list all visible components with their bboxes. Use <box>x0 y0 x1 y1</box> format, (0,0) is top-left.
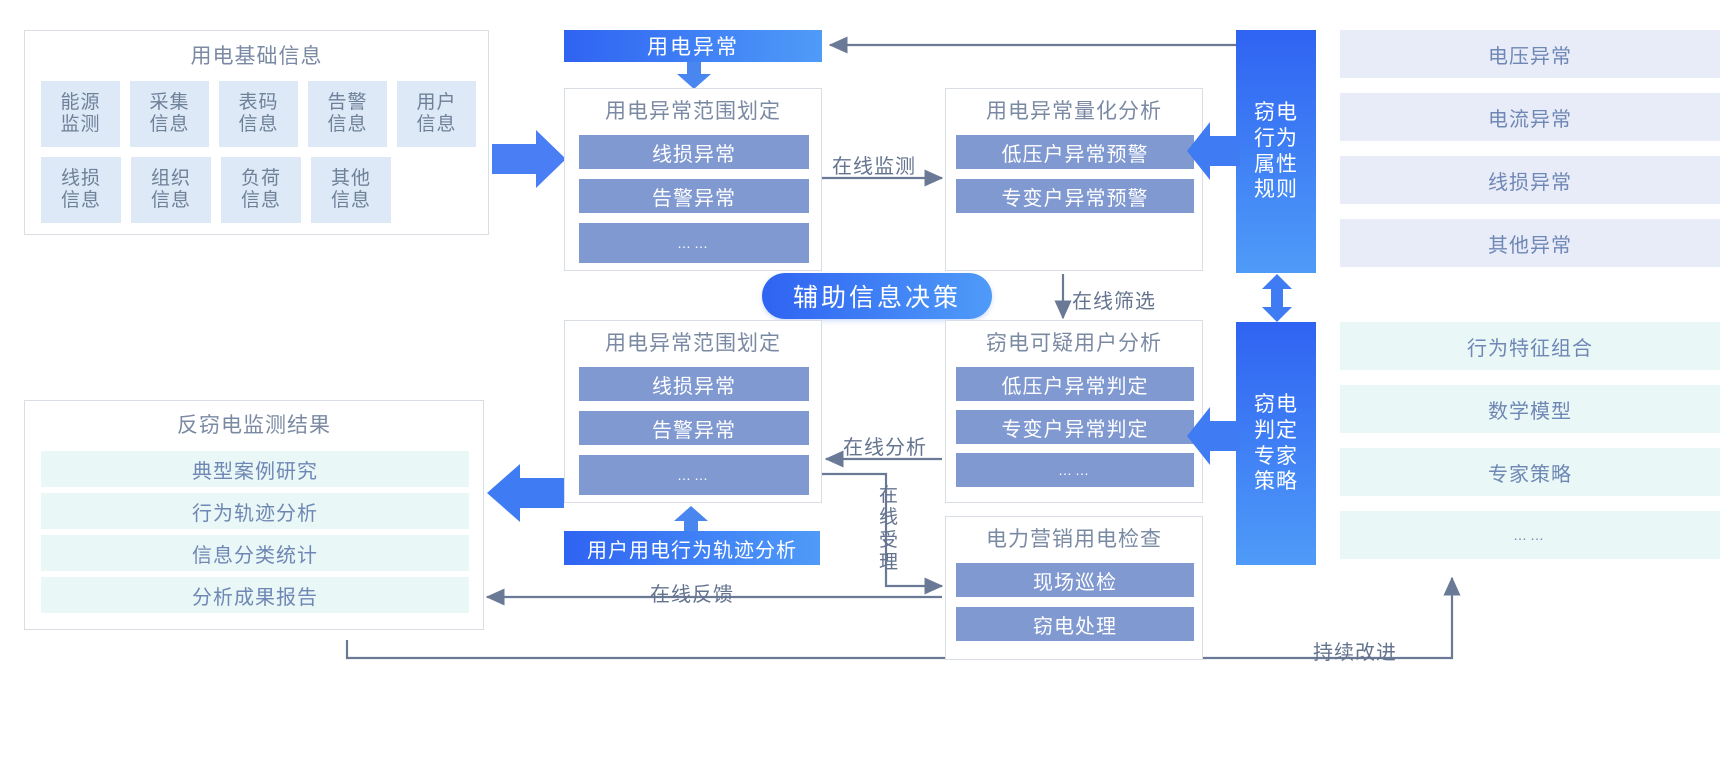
rule-bottom-item-more[interactable]: …… <box>1340 511 1720 559</box>
label-char: 在 <box>878 485 900 507</box>
row-label: 分析成果报告 <box>192 581 318 610</box>
label-continuous-improve: 持续改进 <box>1313 636 1397 665</box>
arrow-banner-down-icon <box>676 62 712 90</box>
row-label: 数学模型 <box>1488 395 1572 424</box>
connector-continuous-improve <box>347 578 1452 658</box>
chip-line2: 信息 <box>61 190 101 212</box>
row-label: 典型案例研究 <box>192 455 318 484</box>
rule-line: 属性 <box>1254 152 1298 178</box>
chip-collection-info[interactable]: 采集 信息 <box>130 81 209 147</box>
chip-alarm-info[interactable]: 告警 信息 <box>308 81 387 147</box>
chip-line1: 组织 <box>151 168 191 190</box>
row-label: 专变户异常判定 <box>1002 413 1149 442</box>
basic-info-panel: 用电基础信息 能源 监测 采集 信息 表码 信息 告警 信息 <box>24 30 489 235</box>
label-char: 线 <box>878 507 900 529</box>
chip-line-loss-info[interactable]: 线损 信息 <box>41 157 121 223</box>
inspection-panel: 电力营销用电检查 现场巡检 窃电处理 <box>945 516 1203 660</box>
rule-block-top[interactable]: 窃电 行为 属性 规则 <box>1236 30 1316 273</box>
scope-mid-row-alarm[interactable]: 告警异常 <box>579 411 809 445</box>
chip-organization-info[interactable]: 组织 信息 <box>131 157 211 223</box>
chip-line2: 信息 <box>327 114 367 136</box>
chip-line2: 信息 <box>151 190 191 212</box>
decision-pill-label: 辅助信息决策 <box>793 278 961 314</box>
row-label: 专变户异常预警 <box>1002 182 1149 211</box>
chip-load-info[interactable]: 负荷 信息 <box>221 157 301 223</box>
scope-top-row-more[interactable]: …… <box>579 223 809 263</box>
row-label: 行为特征组合 <box>1467 332 1593 361</box>
result-row-behavior-trace[interactable]: 行为轨迹分析 <box>41 493 469 529</box>
chip-line1: 采集 <box>149 92 189 114</box>
row-label: 专家策略 <box>1488 458 1572 487</box>
scope-mid-row-more[interactable]: …… <box>579 455 809 495</box>
quant-title: 用电异常量化分析 <box>946 99 1202 124</box>
result-title: 反窃电监测结果 <box>25 413 483 438</box>
chip-line1: 表码 <box>238 92 278 114</box>
chip-line1: 能源 <box>60 92 100 114</box>
scope-top-row-line-loss[interactable]: 线损异常 <box>579 135 809 169</box>
row-label: 现场巡检 <box>1033 566 1117 595</box>
chip-energy-monitor[interactable]: 能源 监测 <box>41 81 120 147</box>
row-label: 低压户异常预警 <box>1002 138 1149 167</box>
label-online-feedback: 在线反馈 <box>650 578 734 607</box>
rule-top-item-current-anomaly[interactable]: 电流异常 <box>1340 93 1720 141</box>
row-label: 行为轨迹分析 <box>192 497 318 526</box>
rule-line: 专家 <box>1254 444 1298 470</box>
chip-user-info[interactable]: 用户 信息 <box>397 81 476 147</box>
row-label: 线损异常 <box>652 370 736 399</box>
row-label: 线损异常 <box>1488 166 1572 195</box>
arrow-scope-to-result-icon <box>486 462 564 524</box>
rule-block-bottom[interactable]: 窃电 判定 专家 策略 <box>1236 322 1316 565</box>
result-row-analysis-report[interactable]: 分析成果报告 <box>41 577 469 613</box>
suspect-row-more[interactable]: …… <box>956 453 1194 487</box>
row-label: …… <box>1058 462 1092 478</box>
trace-analysis-bar[interactable]: 用户用电行为轨迹分析 <box>564 531 820 565</box>
chip-line2: 信息 <box>416 114 456 136</box>
chip-line2: 信息 <box>238 114 278 136</box>
rule-line: 规则 <box>1254 177 1298 203</box>
result-panel: 反窃电监测结果 典型案例研究 行为轨迹分析 信息分类统计 分析成果报告 <box>24 400 484 630</box>
row-label: 告警异常 <box>652 414 736 443</box>
label-char: 理 <box>878 552 900 574</box>
scope-mid-title: 用电异常范围划定 <box>565 331 821 356</box>
basic-info-title: 用电基础信息 <box>25 44 488 69</box>
row-label: 告警异常 <box>652 182 736 211</box>
chip-line1: 告警 <box>327 92 367 114</box>
rule-top-item-other-anomaly[interactable]: 其他异常 <box>1340 219 1720 267</box>
top-anomaly-banner[interactable]: 用电异常 <box>564 30 822 62</box>
inspection-row-site-patrol[interactable]: 现场巡检 <box>956 563 1194 597</box>
rule-block-bottom-label: 窃电 判定 专家 策略 <box>1254 392 1298 494</box>
arrow-rule-to-quant-icon <box>1186 120 1240 182</box>
rule-bottom-item-math-model[interactable]: 数学模型 <box>1340 385 1720 433</box>
label-online-filter: 在线筛选 <box>1072 285 1156 314</box>
scope-top-panel: 用电异常范围划定 线损异常 告警异常 …… <box>564 88 822 271</box>
suspect-panel: 窃电可疑用户分析 低压户异常判定 专变户异常判定 …… <box>945 320 1203 503</box>
quant-row-special-user-warning[interactable]: 专变户异常预警 <box>956 179 1194 213</box>
inspection-title: 电力营销用电检查 <box>946 527 1202 552</box>
scope-mid-panel: 用电异常范围划定 线损异常 告警异常 …… <box>564 320 822 503</box>
inspection-row-theft-handling[interactable]: 窃电处理 <box>956 607 1194 641</box>
row-label: 其他异常 <box>1488 229 1572 258</box>
diagram-canvas: 用电基础信息 能源 监测 采集 信息 表码 信息 告警 信息 <box>0 0 1731 764</box>
row-label: 电流异常 <box>1488 103 1572 132</box>
rule-bottom-item-behavior-feature-combo[interactable]: 行为特征组合 <box>1340 322 1720 370</box>
basic-info-chip-grid: 能源 监测 采集 信息 表码 信息 告警 信息 用户 信息 <box>41 81 476 223</box>
rule-top-items: 电压异常 电流异常 线损异常 其他异常 <box>1340 30 1720 267</box>
rule-bottom-item-expert-strategy[interactable]: 专家策略 <box>1340 448 1720 496</box>
row-label: …… <box>1513 527 1547 543</box>
suspect-row-special-user-judge[interactable]: 专变户异常判定 <box>956 410 1194 444</box>
rule-blocks-double-arrow-icon <box>1261 274 1293 322</box>
row-label: …… <box>677 467 711 483</box>
rule-line: 判定 <box>1254 418 1298 444</box>
label-online-accept: 在 线 受 理 <box>878 485 900 575</box>
label-online-monitor: 在线监测 <box>832 150 916 179</box>
chip-line2: 信息 <box>149 114 189 136</box>
decision-pill[interactable]: 辅助信息决策 <box>762 273 992 319</box>
arrow-rule-to-suspect-icon <box>1186 405 1240 467</box>
chip-line2: 信息 <box>331 190 371 212</box>
suspect-row-lv-user-judge[interactable]: 低压户异常判定 <box>956 367 1194 401</box>
rule-bottom-items: 行为特征组合 数学模型 专家策略 …… <box>1340 322 1720 559</box>
row-label: 低压户异常判定 <box>1002 370 1149 399</box>
result-row-info-classification[interactable]: 信息分类统计 <box>41 535 469 571</box>
rule-line: 窃电 <box>1254 392 1298 418</box>
chip-meter-code-info[interactable]: 表码 信息 <box>219 81 298 147</box>
rule-top-item-voltage-anomaly[interactable]: 电压异常 <box>1340 30 1720 78</box>
rule-line: 窃电 <box>1254 100 1298 126</box>
result-row-case-study[interactable]: 典型案例研究 <box>41 451 469 487</box>
label-char: 受 <box>878 530 900 552</box>
quant-panel: 用电异常量化分析 低压户异常预警 专变户异常预警 <box>945 88 1203 271</box>
chip-line2: 信息 <box>241 190 281 212</box>
chip-line1: 负荷 <box>241 168 281 190</box>
arrow-basic-to-scope-icon <box>492 128 567 190</box>
row-label: 窃电处理 <box>1033 610 1117 639</box>
scope-top-title: 用电异常范围划定 <box>565 99 821 124</box>
scope-top-row-alarm[interactable]: 告警异常 <box>579 179 809 213</box>
quant-row-lv-user-warning[interactable]: 低压户异常预警 <box>956 135 1194 169</box>
chip-line1: 用户 <box>416 92 456 114</box>
row-label: 信息分类统计 <box>192 539 318 568</box>
scope-mid-row-line-loss[interactable]: 线损异常 <box>579 367 809 401</box>
row-label: …… <box>677 235 711 251</box>
trace-analysis-label: 用户用电行为轨迹分析 <box>587 534 797 563</box>
suspect-title: 窃电可疑用户分析 <box>946 331 1202 356</box>
chip-line1: 线损 <box>61 168 101 190</box>
chip-line2: 监测 <box>60 114 100 136</box>
label-online-analysis: 在线分析 <box>843 431 927 460</box>
rule-line: 策略 <box>1254 469 1298 495</box>
row-label: 线损异常 <box>652 138 736 167</box>
rule-top-item-line-loss-anomaly[interactable]: 线损异常 <box>1340 156 1720 204</box>
chip-other-info[interactable]: 其他 信息 <box>311 157 391 223</box>
rule-line: 行为 <box>1254 126 1298 152</box>
chip-line1: 其他 <box>331 168 371 190</box>
top-anomaly-banner-label: 用电异常 <box>647 31 739 61</box>
row-label: 电压异常 <box>1488 40 1572 69</box>
rule-block-top-label: 窃电 行为 属性 规则 <box>1254 100 1298 202</box>
